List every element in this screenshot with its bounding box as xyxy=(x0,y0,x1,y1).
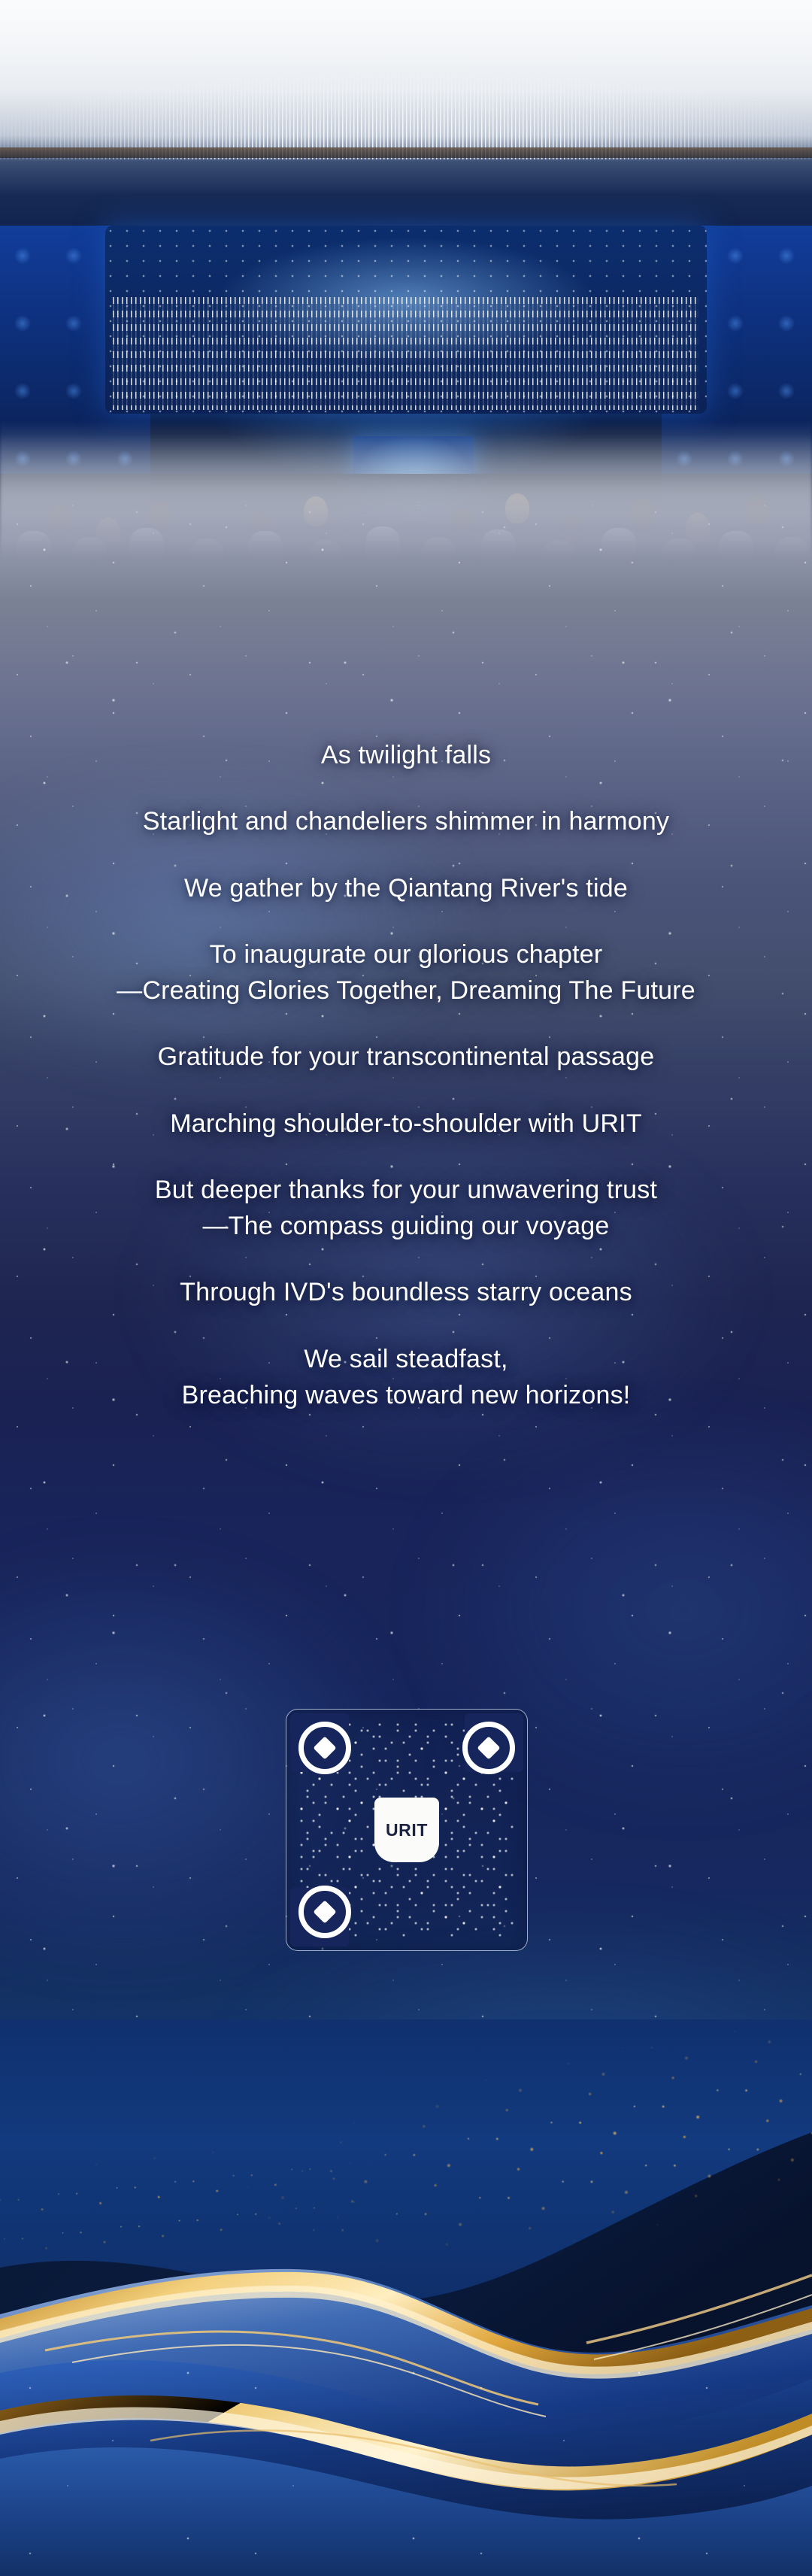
poem-line: Gratitude for your transcontinental pass… xyxy=(0,1039,812,1075)
led-crystal-strands xyxy=(113,297,699,410)
poem-line: Through IVD's boundless starry oceans xyxy=(0,1274,812,1310)
hero-banquet-photo xyxy=(0,0,812,572)
poster-root: As twilight falls Starlight and chandeli… xyxy=(0,0,812,2576)
poem-block: As twilight falls Starlight and chandeli… xyxy=(0,737,812,1413)
qr-brand-label: URIT xyxy=(386,1820,428,1840)
led-ceiling-array xyxy=(105,226,707,414)
poem-line: Starlight and chandeliers shimmer in har… xyxy=(0,803,812,839)
footer-starfield xyxy=(0,2350,812,2576)
poem-line: We gather by the Qiantang River's tide xyxy=(0,870,812,906)
ceiling-haze xyxy=(0,0,812,188)
poem-line: As twilight falls xyxy=(0,737,812,773)
qr-finder-icon xyxy=(298,1722,351,1774)
qr-finder-icon xyxy=(298,1886,351,1938)
poem-line: Marching shoulder-to-shoulder with URIT xyxy=(0,1106,812,1142)
qr-brand-badge: URIT xyxy=(374,1798,439,1862)
qr-code[interactable]: URIT xyxy=(286,1709,528,1951)
qr-module-area: URIT xyxy=(298,1722,515,1938)
footer-wave-artwork xyxy=(0,2019,812,2576)
qr-finder-icon xyxy=(462,1722,515,1774)
poem-line: To inaugurate our glorious chapter —Crea… xyxy=(0,936,812,1009)
poem-line: We sail steadfast, Breaching waves towar… xyxy=(0,1341,812,1414)
photo-mist-fade xyxy=(0,421,812,572)
poem-line: But deeper thanks for your unwavering tr… xyxy=(0,1172,812,1245)
